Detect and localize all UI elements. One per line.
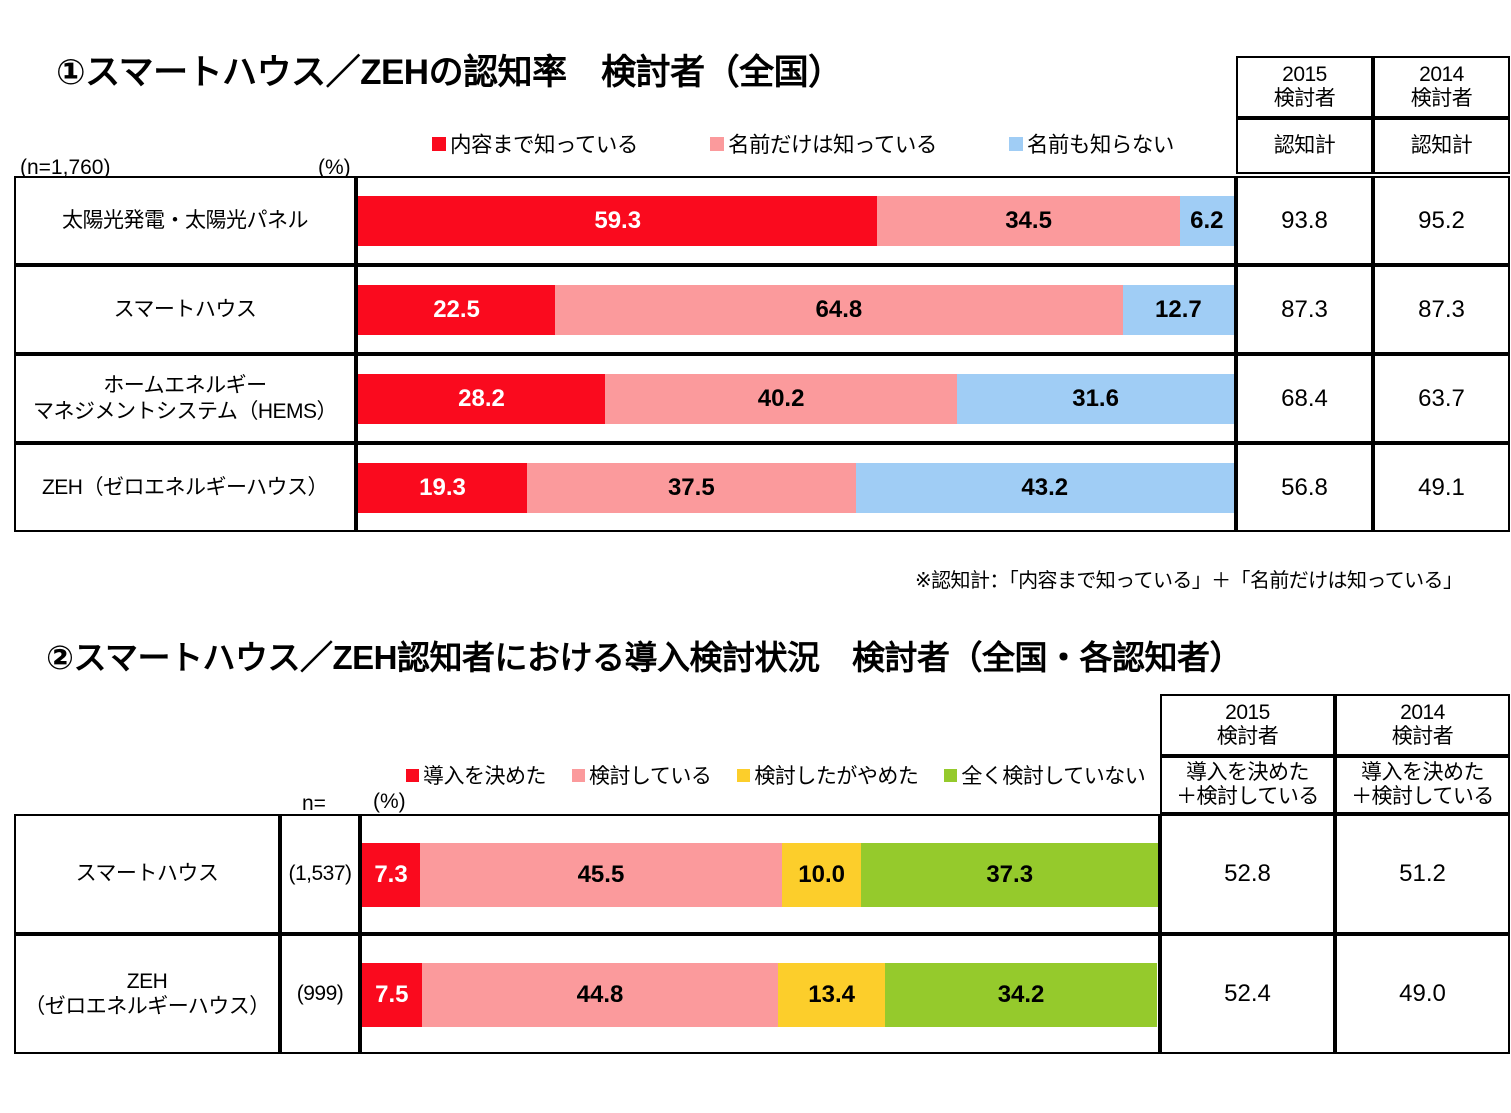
section2-bar-0-value-0: 7.3 (374, 861, 407, 889)
legend-label-kimeta: 導入を決めた (423, 760, 546, 790)
section1-row-label-1-text: スマートハウス (114, 297, 257, 322)
section2-total2014-0-text: 51.2 (1399, 860, 1446, 888)
section2-bar-1: 7.5 44.8 13.4 34.2 (362, 963, 1158, 1027)
section1-total2014-2: 63.7 (1373, 354, 1510, 443)
section1-bar-3-value-2: 43.2 (1021, 474, 1068, 502)
section2-bar-0: 7.3 45.5 10.0 37.3 (362, 843, 1158, 907)
section1-total2014-3: 49.1 (1373, 443, 1510, 532)
section2-bar-1-value-2: 13.4 (808, 981, 855, 1009)
section1-total2015-1-text: 87.3 (1281, 296, 1328, 324)
section2-row-n-0-text: (1,537) (288, 861, 351, 886)
section1-total2014-1-text: 87.3 (1418, 296, 1465, 324)
section1-row-label-2-line1: ホームエネルギー (33, 373, 337, 398)
section2-bar-1-seg-0: 7.5 (362, 963, 422, 1027)
section2-bar-0-value-1: 45.5 (578, 861, 625, 889)
legend-swatch-pink (710, 137, 724, 151)
section2-title: ②スマートハウス／ZEH認知者における導入検討状況 検討者（全国・各認知者） (46, 631, 1242, 679)
section2-row-n-1-text: (999) (297, 981, 344, 1006)
legend-item-shiranai: 名前も知らない (1009, 128, 1174, 159)
section1-bar-3-seg-1: 37.5 (527, 463, 856, 513)
section1-row-label-1: スマートハウス (14, 265, 356, 354)
section2-total2015-0-text: 52.8 (1224, 860, 1271, 888)
section1-bar-3-value-0: 19.3 (419, 474, 466, 502)
section1-total2015-0: 93.8 (1236, 176, 1373, 265)
legend-label-namae-dake: 名前だけは知っている (728, 128, 937, 159)
section2-bar-0-seg-3: 37.3 (861, 843, 1158, 907)
section1-bar-1-value-2: 12.7 (1155, 296, 1202, 324)
section2-bar-1-value-1: 44.8 (577, 981, 624, 1009)
section1-header-2015-metric-text: 認知計 (1274, 134, 1336, 158)
section2-n-note: n= (302, 792, 326, 816)
section1-total2015-0-text: 93.8 (1281, 207, 1328, 235)
section1-row-label-3: ZEH（ゼロエネルギーハウス） (14, 443, 356, 532)
section1-bar-0-value-0: 59.3 (594, 207, 641, 235)
legend-item-kimeta: 導入を決めた (406, 760, 546, 790)
section2-row-label-1-line1: ZEH (24, 969, 270, 994)
section1-bar-0-value-1: 34.5 (1005, 207, 1052, 235)
section2-header-2015-metric-line2: ＋検討している (1176, 785, 1319, 809)
section2-header-2015-year: 2015 検討者 (1160, 694, 1335, 756)
section1-title: ①スマートハウス／ZEHの認知率 検討者（全国） (56, 44, 843, 95)
legend-swatch-green (944, 769, 957, 782)
section1-bar-3: 19.3 37.5 43.2 (358, 463, 1234, 513)
section1-header-2014-year-text: 2014 (1411, 63, 1473, 87)
section1-bar-2: 28.2 40.2 31.6 (358, 374, 1234, 424)
section2-total2014-1: 49.0 (1335, 934, 1510, 1054)
survey-report-page: ①スマートハウス／ZEHの認知率 検討者（全国） 内容まで知っている 名前だけは… (0, 0, 1511, 1113)
section1-bar-1: 22.5 64.8 12.7 (358, 285, 1234, 335)
section1-total2014-2-text: 63.7 (1418, 385, 1465, 413)
section1-total2014-0: 95.2 (1373, 176, 1510, 265)
section2-row-n-1: (999) (280, 934, 360, 1054)
section2-row-label-1-line2: （ゼロエネルギーハウス） (24, 994, 270, 1019)
section1-header-2015-group-text: 検討者 (1274, 87, 1336, 111)
section1-bar-3-value-1: 37.5 (668, 474, 715, 502)
section2-legend: 導入を決めた 検討している 検討したがやめた 全く検討していない (406, 760, 1145, 790)
legend-label-kentou-chu: 検討している (589, 760, 711, 790)
section2-bar-1-value-3: 34.2 (998, 981, 1045, 1009)
legend-swatch-pink-2 (572, 769, 585, 782)
section2-bar-0-seg-2: 10.0 (782, 843, 862, 907)
section1-total2015-2-text: 68.4 (1281, 385, 1328, 413)
section1-header-2014-group-text: 検討者 (1411, 87, 1473, 111)
section1-bar-1-seg-1: 64.8 (555, 285, 1123, 335)
section1-bar-1-value-1: 64.8 (816, 296, 863, 324)
section2-header-2014-year-text: 2014 (1392, 701, 1454, 725)
section2-header-2015-group-text: 検討者 (1217, 725, 1279, 749)
legend-item-mattaku: 全く検討していない (944, 760, 1145, 790)
legend-swatch-yellow (737, 769, 750, 782)
section1-bar-0-seg-0: 59.3 (358, 196, 877, 246)
section2-bar-0-value-3: 37.3 (986, 861, 1033, 889)
section2-total2014-0: 51.2 (1335, 814, 1510, 934)
section1-bar-0: 59.3 34.5 6.2 (358, 196, 1234, 246)
section1-total2015-1: 87.3 (1236, 265, 1373, 354)
section1-bar-1-value-0: 22.5 (433, 296, 480, 324)
section1-header-2014-metric: 認知計 (1373, 118, 1510, 174)
legend-label-naiyou: 内容まで知っている (450, 128, 638, 159)
section1-bar-1-seg-0: 22.5 (358, 285, 555, 335)
section2-row-label-1: ZEH （ゼロエネルギーハウス） (14, 934, 280, 1054)
legend-label-shiranai: 名前も知らない (1027, 128, 1174, 159)
section2-header-2015-metric: 導入を決めた ＋検討している (1160, 756, 1335, 814)
section2-header-2015-year-text: 2015 (1217, 701, 1279, 725)
section2-total2015-1: 52.4 (1160, 934, 1335, 1054)
legend-item-kentou-chu: 検討している (572, 760, 711, 790)
section2-header-2014-metric-line1: 導入を決めた (1351, 761, 1494, 785)
section1-total2015-3-text: 56.8 (1281, 474, 1328, 502)
section2-bar-1-seg-2: 13.4 (778, 963, 885, 1027)
section1-bar-3-seg-0: 19.3 (358, 463, 527, 513)
section1-row-label-2-line2: マネジメントシステム（HEMS） (33, 399, 337, 424)
section2-bar-1-seg-1: 44.8 (422, 963, 779, 1027)
section2-header-2014-metric: 導入を決めた ＋検討している (1335, 756, 1510, 814)
section1-bar-0-seg-1: 34.5 (877, 196, 1179, 246)
section1-row-label-3-text: ZEH（ゼロエネルギーハウス） (42, 475, 328, 500)
section2-total2015-1-text: 52.4 (1224, 980, 1271, 1008)
section2-bar-1-seg-3: 34.2 (885, 963, 1157, 1027)
legend-item-naiyou: 内容まで知っている (432, 128, 638, 159)
legend-item-yameta: 検討したがやめた (737, 760, 918, 790)
section1-total2014-3-text: 49.1 (1418, 474, 1465, 502)
section1-bar-2-value-0: 28.2 (458, 385, 505, 413)
section2-header-2014-group-text: 検討者 (1392, 725, 1454, 749)
section2-total2014-1-text: 49.0 (1399, 980, 1446, 1008)
section1-header-2015-year-text: 2015 (1274, 63, 1336, 87)
section2-bar-0-value-2: 10.0 (798, 861, 845, 889)
section1-total2014-0-text: 95.2 (1418, 207, 1465, 235)
section1-total2014-1: 87.3 (1373, 265, 1510, 354)
section2-header-2015-metric-line1: 導入を決めた (1176, 761, 1319, 785)
section1-total2015-3: 56.8 (1236, 443, 1373, 532)
section1-bar-0-seg-2: 6.2 (1180, 196, 1234, 246)
section2-row-n-0: (1,537) (280, 814, 360, 934)
section2-bar-0-seg-1: 45.5 (420, 843, 782, 907)
section1-header-2015-year: 2015 検討者 (1236, 56, 1373, 118)
section1-legend: 内容まで知っている 名前だけは知っている 名前も知らない (432, 128, 1174, 159)
section1-bar-1-seg-2: 12.7 (1123, 285, 1234, 335)
section1-total2015-2: 68.4 (1236, 354, 1373, 443)
legend-swatch-blue (1009, 137, 1023, 151)
legend-label-yameta: 検討したがやめた (754, 760, 918, 790)
section1-bar-2-value-2: 31.6 (1072, 385, 1119, 413)
section1-row-label-2: ホームエネルギー マネジメントシステム（HEMS） (14, 354, 356, 443)
section2-row-label-0-text: スマートハウス (76, 861, 219, 886)
legend-item-namae-dake: 名前だけは知っている (710, 128, 937, 159)
legend-label-mattaku: 全く検討していない (961, 760, 1145, 790)
section1-bar-2-value-1: 40.2 (758, 385, 805, 413)
section2-header-2014-metric-line2: ＋検討している (1351, 785, 1494, 809)
section2-header-2014-year: 2014 検討者 (1335, 694, 1510, 756)
section1-header-2014-metric-text: 認知計 (1411, 134, 1473, 158)
section1-bar-2-seg-0: 28.2 (358, 374, 605, 424)
section1-footnote: ※認知計：「内容まで知っている」＋「名前だけは知っている」 (915, 564, 1462, 593)
section1-bar-2-seg-1: 40.2 (605, 374, 957, 424)
section1-bar-2-seg-2: 31.6 (957, 374, 1234, 424)
section1-bar-3-seg-2: 43.2 (856, 463, 1234, 513)
legend-swatch-red (432, 137, 446, 151)
section1-bar-0-value-2: 6.2 (1190, 207, 1223, 235)
section2-bar-1-value-0: 7.5 (375, 981, 408, 1009)
section2-total2015-0: 52.8 (1160, 814, 1335, 934)
section1-header-2015-metric: 認知計 (1236, 118, 1373, 174)
section2-unit-note: (%) (373, 790, 406, 814)
section2-bar-0-seg-0: 7.3 (362, 843, 420, 907)
legend-swatch-red-2 (406, 769, 419, 782)
section1-row-label-0: 太陽光発電・太陽光パネル (14, 176, 356, 265)
section1-header-2014-year: 2014 検討者 (1373, 56, 1510, 118)
section2-row-label-0: スマートハウス (14, 814, 280, 934)
section1-row-label-0-text: 太陽光発電・太陽光パネル (62, 208, 308, 233)
